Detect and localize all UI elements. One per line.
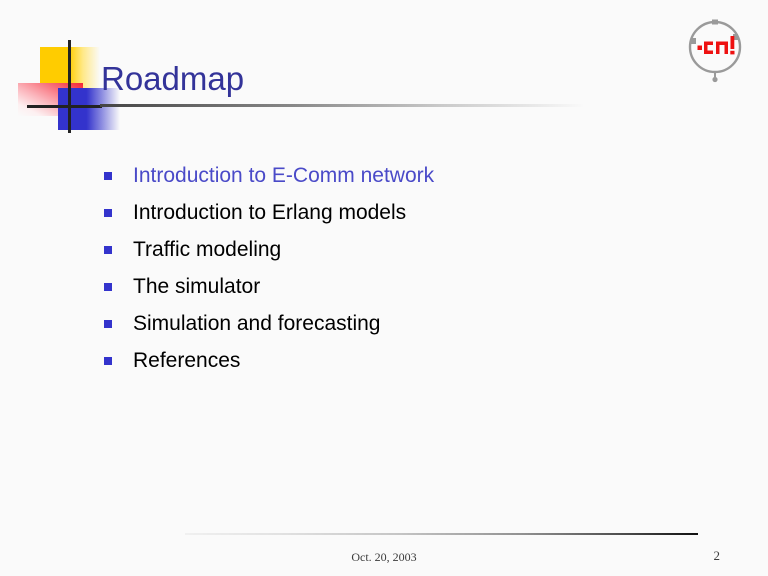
bullet-square-icon: [104, 283, 112, 291]
list-item-label: Simulation and forecasting: [133, 311, 380, 337]
bullet-square-icon: [104, 246, 112, 254]
list-item[interactable]: Traffic modeling: [104, 237, 704, 274]
page-title: Roadmap: [101, 60, 244, 98]
list-item[interactable]: Introduction to Erlang models: [104, 200, 704, 237]
cnl-logo-icon: [686, 16, 746, 84]
list-item[interactable]: Introduction to E-Comm network: [104, 163, 704, 200]
bullet-square-icon: [104, 172, 112, 180]
list-item[interactable]: The simulator: [104, 274, 704, 311]
list-item[interactable]: Simulation and forecasting: [104, 311, 704, 348]
footer-page-number: 2: [660, 548, 720, 564]
bullet-square-icon: [104, 209, 112, 217]
accent-crosshair-horizontal: [27, 105, 102, 108]
presentation-slide: Roadmap Introd: [0, 0, 768, 576]
title-divider: [100, 104, 585, 107]
footer-divider: [185, 533, 698, 535]
bullet-square-icon: [104, 357, 112, 365]
bullet-square-icon: [104, 320, 112, 328]
list-item-label: Introduction to Erlang models: [133, 200, 406, 226]
list-item-label: Traffic modeling: [133, 237, 281, 263]
list-item-label: References: [133, 348, 240, 374]
cnl-logo: [686, 16, 746, 84]
list-item-label: Introduction to E-Comm network: [133, 163, 434, 189]
list-item[interactable]: References: [104, 348, 704, 385]
footer-date: Oct. 20, 2003: [0, 550, 768, 565]
accent-crosshair-vertical: [68, 40, 71, 133]
list-item-label: The simulator: [133, 274, 260, 300]
bullet-list: Introduction to E-Comm network Introduct…: [104, 163, 704, 385]
